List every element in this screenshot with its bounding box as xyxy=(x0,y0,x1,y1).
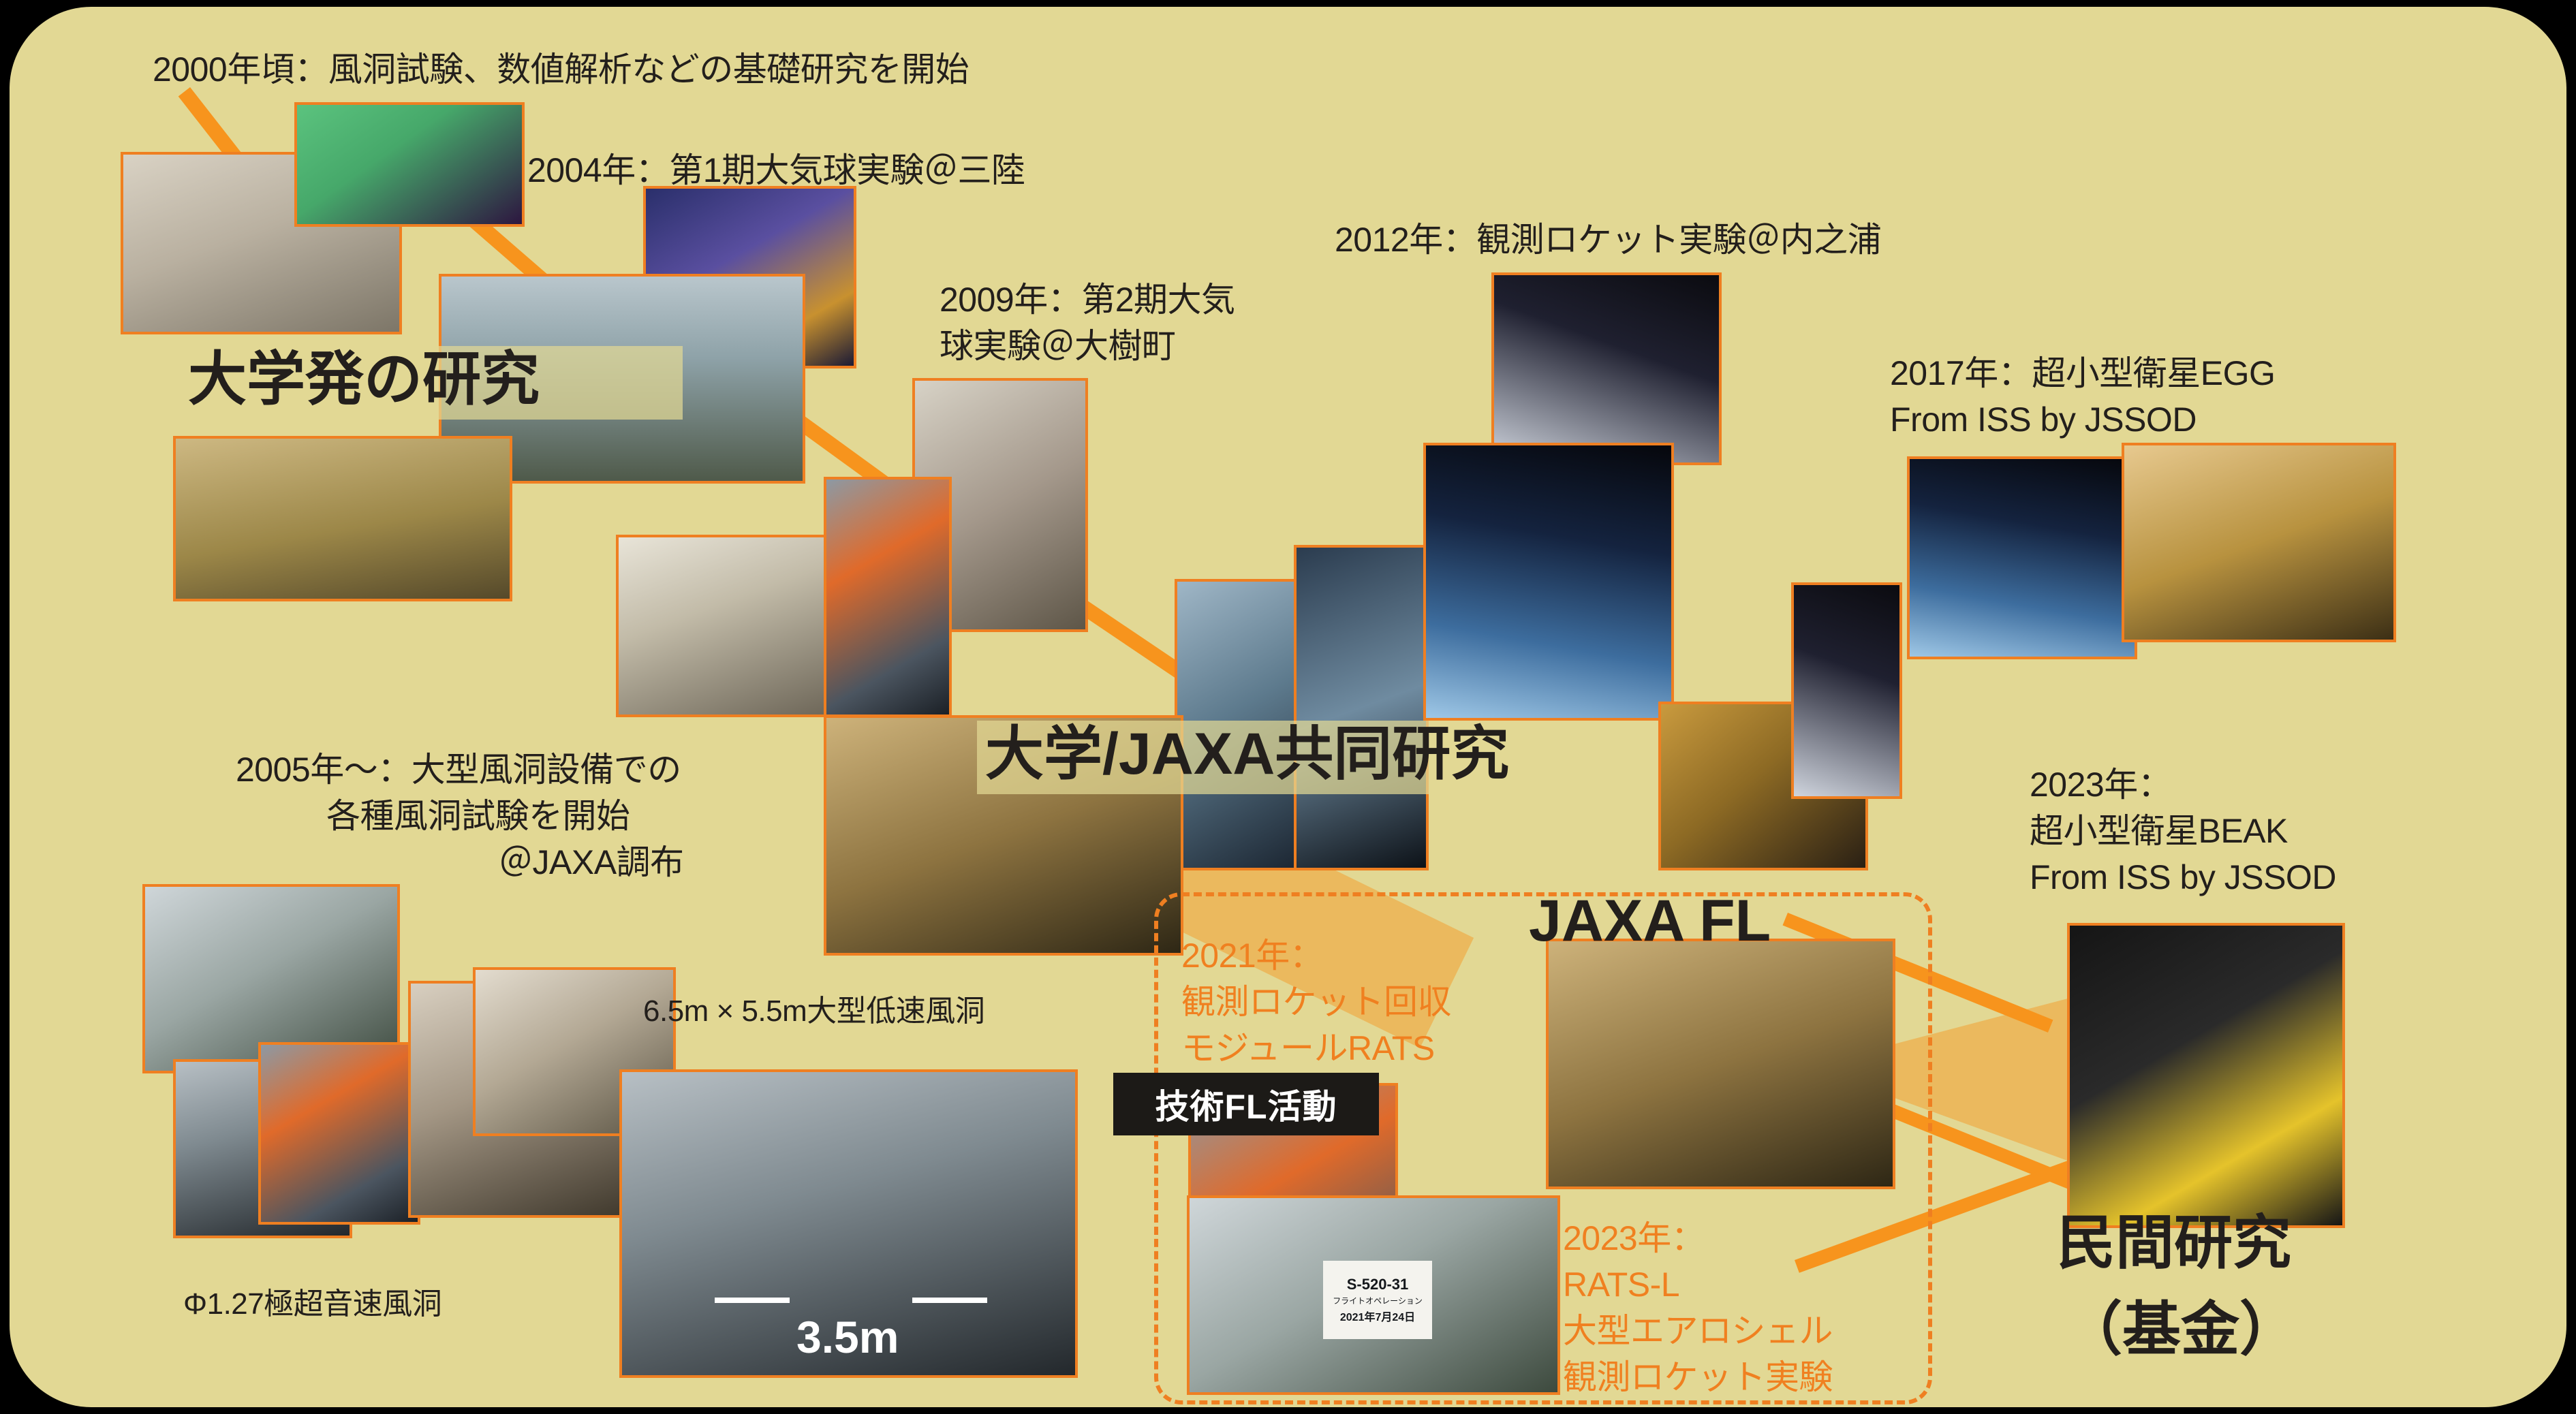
egg-aeroshell-deployed-space-photo xyxy=(1491,272,1722,465)
rats-l-aeroshell-lab-photo xyxy=(1546,939,1895,1189)
tech-fl-badge: 技術FL活動 xyxy=(1113,1073,1379,1135)
milestone-2017-label-line2: From ISS by JSSOD xyxy=(1890,399,2197,441)
red-aeroshell-packed-photo xyxy=(824,477,952,717)
milestone-2021-rats-label-line3: モジュールRATS xyxy=(1181,1028,1435,1069)
sounding-rocket-launch-photo xyxy=(1294,545,1429,870)
milestone-2000-label: 2000年頃：風洞試験、数値解析などの基礎研究を開始 xyxy=(153,49,969,91)
milestone-2005-label-line2: 各種風洞試験を開始 xyxy=(326,796,630,837)
milestone-2021-rats-label-line1: 2021年： xyxy=(1181,935,1323,977)
earth-limb-aeroshell-photo xyxy=(1423,443,1674,721)
s520-31-team-photo: S-520-31 フライトオペレーション 2021年7月24日 xyxy=(1187,1195,1560,1395)
milestone-2017-label-line1: 2017年：超小型衛星EGG xyxy=(1890,353,2275,394)
milestone-2009-label-line2: 球実験＠大樹町 xyxy=(940,326,1176,367)
milestone-2023-ratsl-label-line1: 2023年： xyxy=(1563,1218,1705,1259)
scale-marker-line-left xyxy=(715,1298,790,1303)
cfd-shock-visualization-photo xyxy=(294,102,525,227)
milestone-2005-label-line3: ＠JAXA調布 xyxy=(499,842,684,883)
milestone-2012-label: 2012年：観測ロケット実験＠内之浦 xyxy=(1335,219,1881,261)
inflatable-aeroshell-ground-photo xyxy=(173,436,512,601)
egg-cubesat-photo xyxy=(1791,582,1902,799)
aeroshell-orbit-earth-photo xyxy=(2122,443,2396,642)
milestone-2005-label-line1: 2005年〜：大型風洞設備での xyxy=(236,749,681,791)
milestone-2023-beak-label-line2: 超小型衛星BEAK xyxy=(2030,811,2288,852)
joint-phase-heading: 大学/JAXA共同研究 xyxy=(985,722,1509,787)
sign-line-2: フライトオペレーション xyxy=(1333,1295,1423,1306)
scale-marker-label: 3.5m xyxy=(796,1311,899,1363)
jaxa-fl-phase-heading: JAXA FL xyxy=(1529,889,1771,954)
scale-marker-line-right xyxy=(912,1298,987,1303)
aeroshell-drop-test-photo xyxy=(616,535,846,717)
milestone-2023-beak-label-line3: From ISS by JSSOD xyxy=(2030,857,2336,898)
milestone-2023-ratsl-label-line2: RATS-L xyxy=(1563,1264,1679,1306)
sign-line-3: 2021年7月24日 xyxy=(1340,1308,1415,1324)
milestone-2023-ratsl-label-line4: 観測ロケット実験 xyxy=(1563,1357,1833,1398)
milestone-2004-label: 2004年：第1期大気球実験＠三陸 xyxy=(527,150,1025,191)
milestone-2023-ratsl-label-line3: 大型エアロシェル xyxy=(1563,1310,1833,1352)
private-phase-heading-line2: （基金） xyxy=(2064,1298,2298,1362)
slide-canvas: S-520-31 フライトオペレーション 2021年7月24日 2000年頃：風… xyxy=(10,7,2566,1407)
private-phase-heading-line1: 民間研究 xyxy=(2057,1211,2291,1276)
sign-line-1: S-520-31 xyxy=(1347,1276,1409,1293)
university-phase-heading: 大学発の研究 xyxy=(188,347,540,412)
beak-satellite-photo xyxy=(2067,923,2345,1228)
low-speed-tunnel-label: 6.5m × 5.5m大型低速風洞 xyxy=(643,993,984,1030)
hypersonic-tunnel-label: Φ1.27極超音速風洞 xyxy=(183,1286,441,1323)
milestone-2021-rats-label-line2: 観測ロケット回収 xyxy=(1181,981,1451,1023)
milestone-2023-beak-label-line1: 2023年： xyxy=(2030,764,2171,806)
slide-root: S-520-31 フライトオペレーション 2021年7月24日 2000年頃：風… xyxy=(0,0,2576,1414)
orange-aeroshell-test-photo xyxy=(258,1042,420,1225)
milestone-2009-label-line1: 2009年：第2期大気 xyxy=(940,279,1235,321)
egg-deploy-from-iss-photo xyxy=(1907,456,2137,659)
